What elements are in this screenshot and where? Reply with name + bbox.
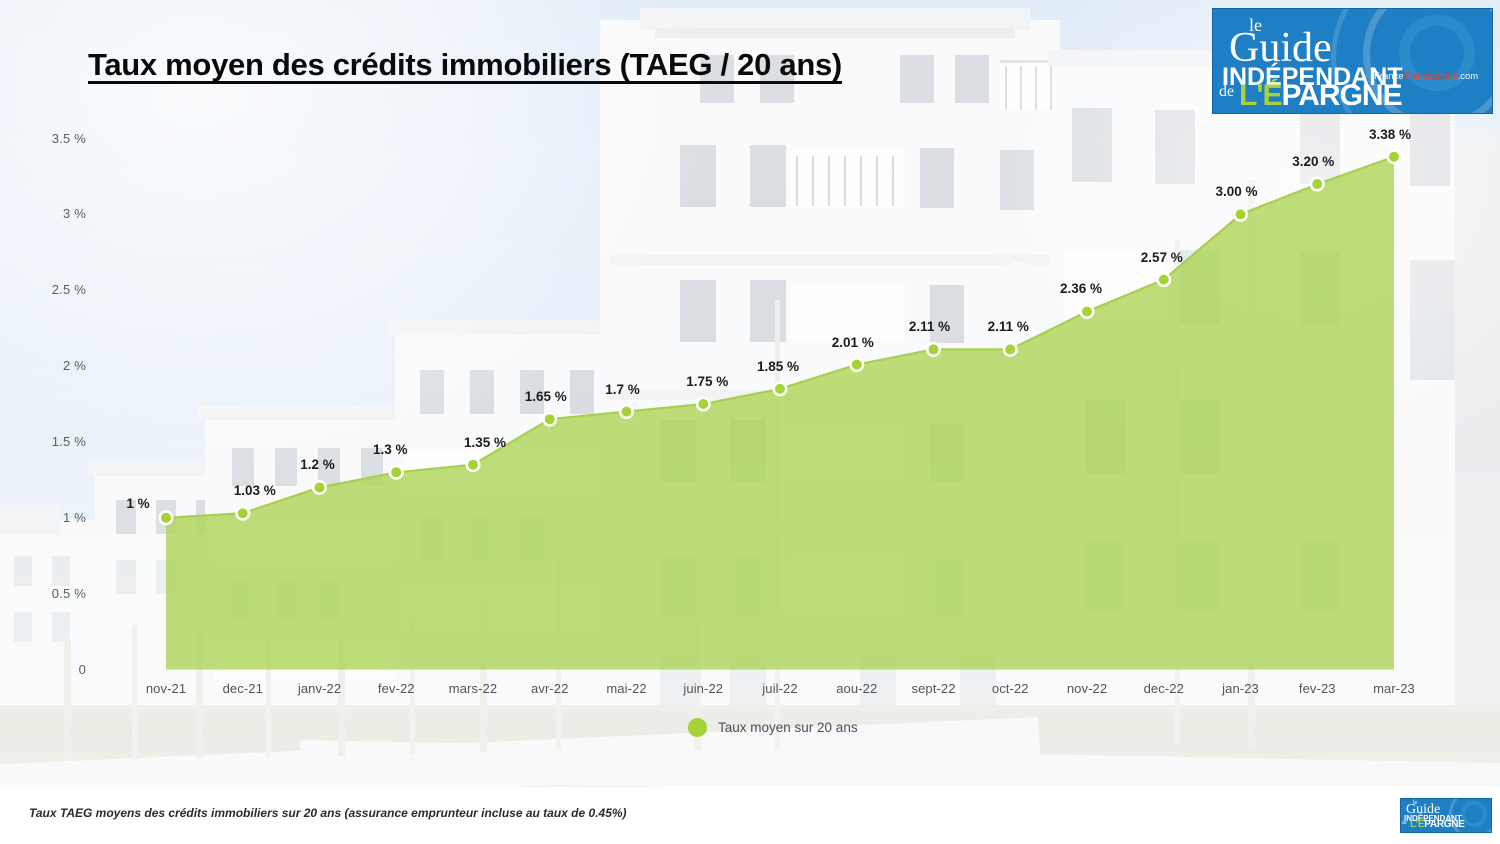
data-point-marker[interactable] <box>775 384 785 394</box>
logo-france: France <box>1374 71 1404 82</box>
data-point-label: 1.35 % <box>440 435 530 450</box>
data-point-marker[interactable] <box>315 482 325 492</box>
chart-legend[interactable]: Taux moyen sur 20 ans <box>688 718 858 737</box>
chart-container: Taux moyen des crédits immobiliers (TAEG… <box>0 0 1500 787</box>
data-point-marker[interactable] <box>391 467 401 477</box>
data-point-marker[interactable] <box>698 399 708 409</box>
data-point-label: 1.2 % <box>273 457 363 472</box>
data-point-marker[interactable] <box>468 460 478 470</box>
data-point-marker[interactable] <box>1159 275 1169 285</box>
data-point-label: 1.03 % <box>210 483 300 498</box>
logo-france-transactions: FranceTransactions.com <box>1374 71 1478 82</box>
brand-logo[interactable]: le Guide INDÉPENDANT de L'ÉPARGNE France… <box>1212 8 1493 114</box>
data-point-marker[interactable] <box>161 513 171 523</box>
data-point-label: 1.85 % <box>733 359 823 374</box>
data-point-label: 2.57 % <box>1117 250 1207 265</box>
data-point-marker[interactable] <box>929 344 939 354</box>
data-point-marker[interactable] <box>622 407 632 417</box>
data-point-label: 3.20 % <box>1268 154 1358 169</box>
logo-epargne: L'ÉPARGNE <box>1410 820 1465 830</box>
data-point-label: 3.00 % <box>1192 184 1282 199</box>
data-point-marker[interactable] <box>1082 306 1092 316</box>
legend-label: Taux moyen sur 20 ans <box>718 720 858 735</box>
logo-epargne-rest: PARGNE <box>1424 819 1464 830</box>
legend-color-swatch <box>688 718 707 737</box>
area-fill <box>166 157 1394 670</box>
data-point-marker[interactable] <box>545 414 555 424</box>
data-point-label: 2.01 % <box>808 335 898 350</box>
data-point-marker[interactable] <box>238 508 248 518</box>
x-axis-tick-label: mar-23 <box>1339 681 1449 696</box>
data-point-marker[interactable] <box>1236 209 1246 219</box>
data-point-label: 1.7 % <box>578 382 668 397</box>
logo-dotcom: .com <box>1458 71 1479 82</box>
data-point-marker[interactable] <box>1005 344 1015 354</box>
logo-epargne: L'ÉPARGNE <box>1239 81 1402 111</box>
logo-epargne-rest: PARGNE <box>1281 79 1401 112</box>
data-point-label: 2.11 % <box>963 319 1053 334</box>
data-point-marker[interactable] <box>1389 152 1399 162</box>
data-point-label: 2.36 % <box>1036 281 1126 296</box>
data-point-label: 1.3 % <box>345 442 435 457</box>
logo-de: de <box>1219 83 1234 101</box>
data-point-marker[interactable] <box>852 360 862 370</box>
data-point-label: 2.11 % <box>885 319 975 334</box>
data-point-marker[interactable] <box>1312 179 1322 189</box>
brand-logo-small[interactable]: le Guide INDÉPENDANT de L'ÉPARGNE <box>1400 798 1492 833</box>
data-point-label: 3.38 % <box>1345 127 1435 142</box>
logo-epargne-prefix: L'É <box>1410 819 1424 830</box>
area-chart-plot <box>0 0 1500 787</box>
logo-transactions: Transactions <box>1404 71 1458 82</box>
footer-caption: Taux TAEG moyens des crédits immobiliers… <box>29 806 627 820</box>
data-point-label: 1 % <box>93 496 183 511</box>
logo-epargne-prefix: L'É <box>1239 79 1281 112</box>
data-point-label: 1.75 % <box>662 374 752 389</box>
logo-de: de <box>1402 821 1407 826</box>
